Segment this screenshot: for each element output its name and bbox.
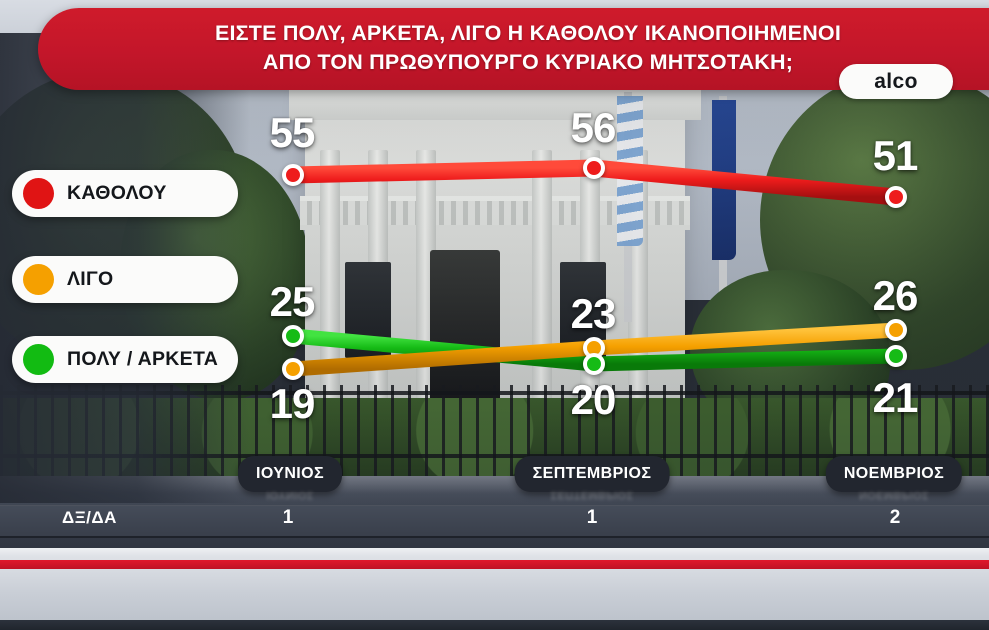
value-label-ligo-iounios: 19 xyxy=(270,380,315,428)
dk-na-label: ΔΞ/ΔΑ xyxy=(62,508,117,528)
value-label-katholou-iounios: 55 xyxy=(270,109,315,157)
axis-label-noemvrios: ΝΟΕΜΒΡΙΟΣ xyxy=(826,456,962,492)
data-point-ligo-iounios[interactable] xyxy=(282,358,304,380)
dk-na-value-iounios: 1 xyxy=(283,507,294,529)
lower-third-red-stripe xyxy=(0,560,989,569)
data-point-katholou-septemvrios[interactable] xyxy=(583,157,605,179)
value-label-katholou-noemvrios: 51 xyxy=(873,132,918,180)
axis-label-noemvrios-reflection: ΝΟΕΜΒΡΙΟΣ xyxy=(859,489,929,501)
dk-na-row xyxy=(0,505,989,538)
value-label-poly-arketa-noemvrios: 21 xyxy=(873,374,918,422)
data-point-poly-arketa-septemvrios[interactable] xyxy=(583,353,605,375)
data-point-poly-arketa-noemvrios[interactable] xyxy=(885,345,907,367)
dk-na-value-noemvrios: 2 xyxy=(890,507,901,529)
axis-label-iounios-reflection: ΙΟΥΝΙΟΣ xyxy=(266,489,314,501)
value-label-ligo-septemvrios: 23 xyxy=(571,290,616,338)
data-point-ligo-noemvrios[interactable] xyxy=(885,319,907,341)
lower-third-bottom-edge xyxy=(0,620,989,630)
dk-na-value-septemvrios: 1 xyxy=(587,507,598,529)
axis-label-septemvrios-reflection: ΣΕΠΤΕΜΒΡΙΟΣ xyxy=(551,489,634,501)
axis-label-septemvrios: ΣΕΠΤΕΜΒΡΙΟΣ xyxy=(515,456,670,492)
data-point-katholou-iounios[interactable] xyxy=(282,164,304,186)
value-label-poly-arketa-iounios: 25 xyxy=(270,278,315,326)
value-label-poly-arketa-septemvrios: 20 xyxy=(571,376,616,424)
data-point-poly-arketa-iounios[interactable] xyxy=(282,325,304,347)
axis-label-iounios: ΙΟΥΝΙΟΣ xyxy=(238,456,342,492)
data-point-katholou-noemvrios[interactable] xyxy=(885,186,907,208)
value-label-ligo-noemvrios: 26 xyxy=(873,272,918,320)
value-label-katholou-septemvrios: 56 xyxy=(571,104,616,152)
broadcast-graphic: ΕΙΣΤΕ ΠΟΛΥ, ΑΡΚΕΤΑ, ΛΙΓΟ Η ΚΑΘΟΛΟΥ ΙΚΑΝΟ… xyxy=(0,0,989,630)
